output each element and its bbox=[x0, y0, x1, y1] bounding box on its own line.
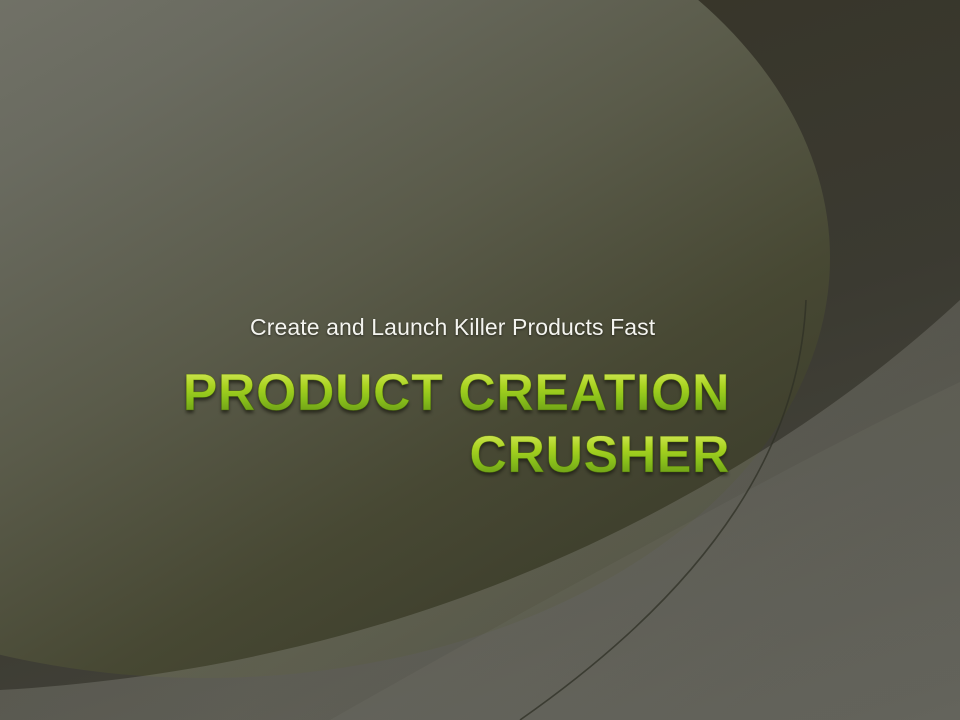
presentation-slide: Create and Launch Killer Products Fast P… bbox=[0, 0, 960, 720]
slide-text-layer: Create and Launch Killer Products Fast P… bbox=[0, 0, 960, 720]
slide-subtitle: Create and Launch Killer Products Fast bbox=[250, 312, 750, 342]
title-line-1: Product Creation Product Creation Produc… bbox=[160, 362, 730, 424]
title-line-2-text: Crusher bbox=[469, 426, 730, 484]
title-line-2: Crusher Crusher Crusher bbox=[160, 424, 730, 486]
title-line-1-text: Product Creation bbox=[183, 364, 730, 422]
slide-title: Product Creation Product Creation Produc… bbox=[160, 362, 730, 486]
